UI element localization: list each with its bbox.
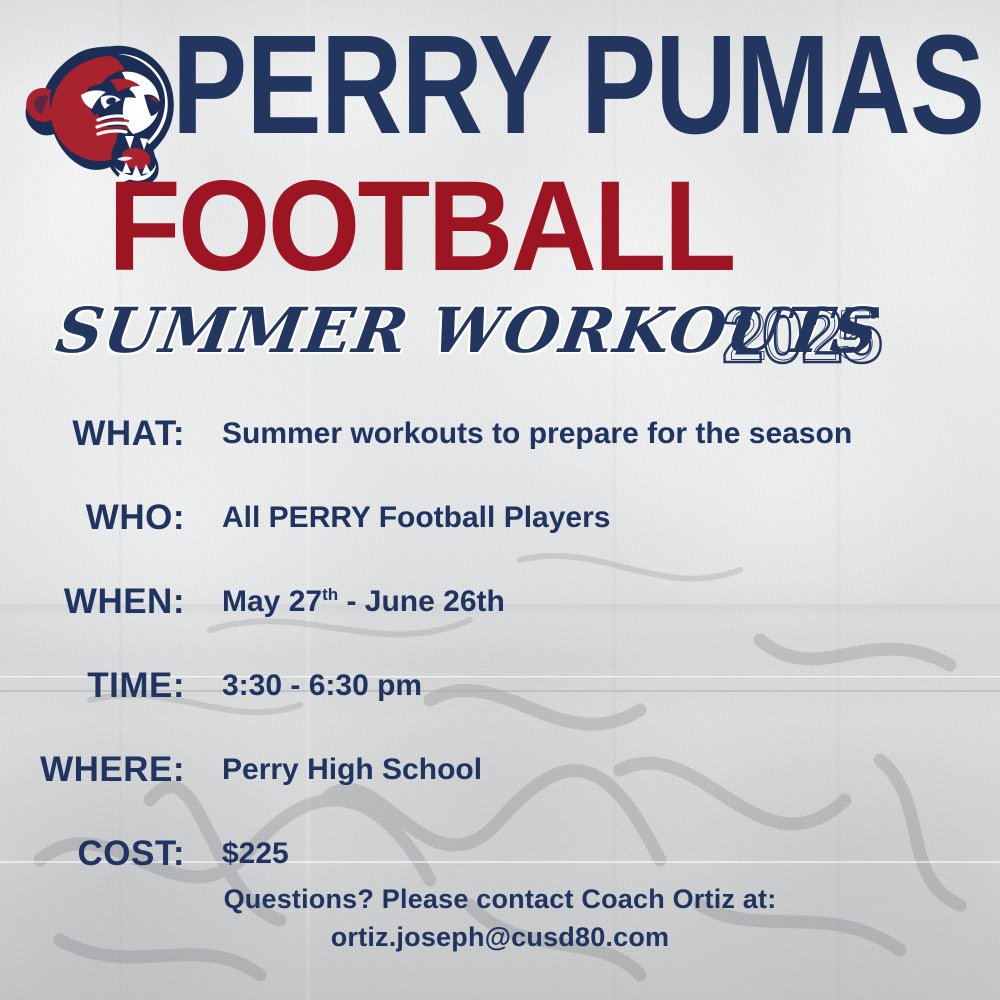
info-value-when-ordinal: th [322, 585, 338, 604]
info-row-who: WHO: All PERRY Football Players [0, 476, 1000, 560]
title-football: FOOTBALL [108, 163, 734, 291]
info-label-what: WHAT: [0, 414, 185, 454]
info-value-when-date: May 27 [222, 585, 322, 618]
info-value-who: All PERRY Football Players [222, 501, 610, 535]
info-value-when: May 27th - June 26th [222, 585, 505, 619]
info-list: WHAT: Summer workouts to prepare for the… [0, 392, 1000, 896]
contact-block: Questions? Please contact Coach Ortiz at… [0, 880, 1000, 956]
info-row-what: WHAT: Summer workouts to prepare for the… [0, 392, 1000, 476]
info-value-time: 3:30 - 6:30 pm [222, 669, 422, 703]
title-year: 2025 2025 [722, 296, 881, 374]
info-label-when: WHEN: [0, 582, 185, 622]
title-year-inner: 2025 [729, 300, 872, 370]
info-label-who: WHO: [0, 498, 185, 538]
info-value-where: Perry High School [222, 753, 482, 787]
info-row-where: WHERE: Perry High School [0, 728, 1000, 812]
summer-workouts-flyer: PERRY PUMAS FOOTBALL SUMMER WORKOUTS 202… [0, 0, 1000, 1000]
info-label-where: WHERE: [0, 750, 185, 790]
info-row-when: WHEN: May 27th - June 26th [0, 560, 1000, 644]
info-value-what: Summer workouts to prepare for the seaso… [222, 417, 852, 451]
info-label-time: TIME: [0, 666, 185, 706]
title-perry-pumas: PERRY PUMAS [172, 14, 984, 155]
info-label-cost: COST: [0, 834, 185, 874]
contact-prompt: Questions? Please contact Coach Ortiz at… [0, 880, 1000, 918]
flyer-header: PERRY PUMAS FOOTBALL SUMMER WORKOUTS 202… [0, 0, 1000, 380]
info-value-when-tail: - June 26th [338, 585, 505, 618]
info-row-time: TIME: 3:30 - 6:30 pm [0, 644, 1000, 728]
contact-email[interactable]: ortiz.joseph@cusd80.com [0, 918, 1000, 956]
info-value-cost: $225 [222, 837, 289, 871]
